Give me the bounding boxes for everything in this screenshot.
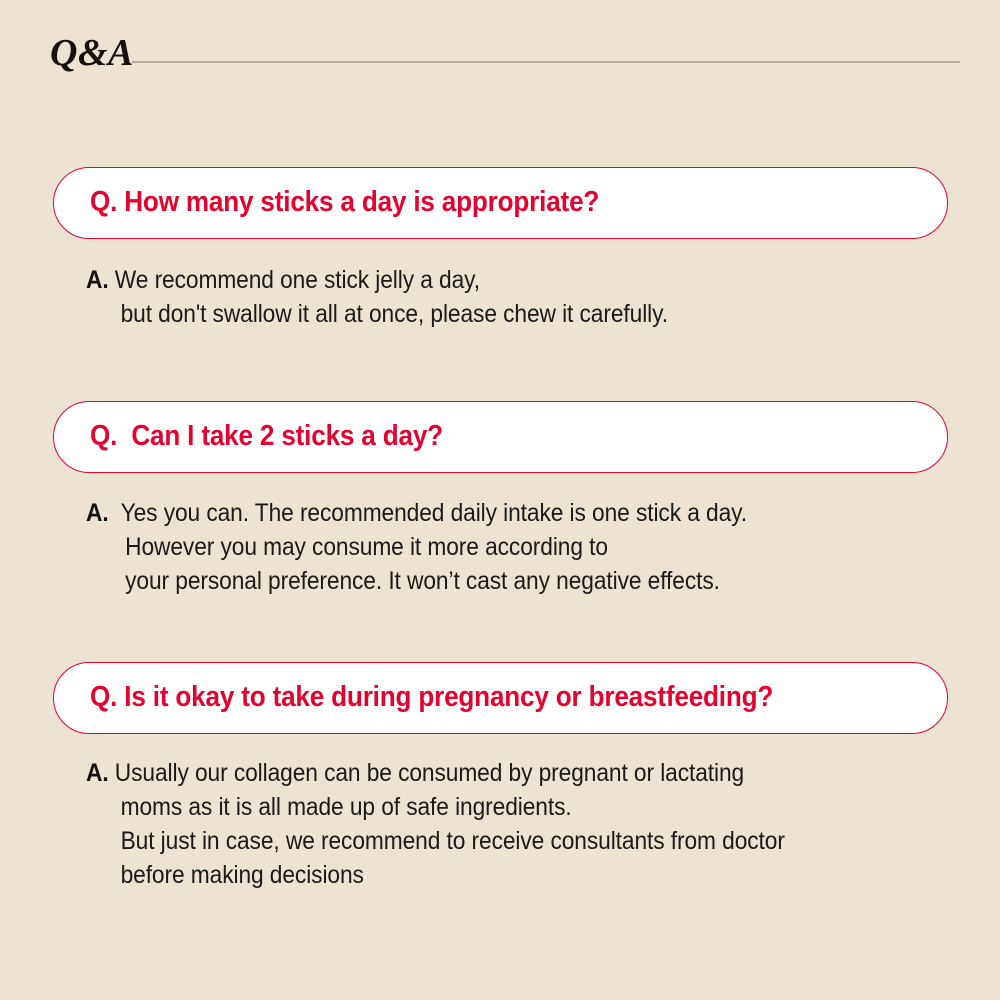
question-pill[interactable]: Q. How many sticks a day is appropriate? <box>53 167 948 239</box>
answer-text: before making decisions <box>86 861 364 889</box>
answer-line: A. We recommend one stick jelly a day, <box>86 263 869 297</box>
answer-text: We recommend one stick jelly a day, <box>109 266 480 294</box>
answer-block: A. We recommend one stick jelly a day, b… <box>86 263 946 331</box>
answer-text: moms as it is all made up of safe ingred… <box>86 793 572 821</box>
question-text: Q. How many sticks a day is appropriate? <box>90 187 599 217</box>
answer-block: A. Yes you can. The recommended daily in… <box>86 496 946 598</box>
answer-line: However you may consume it more accordin… <box>86 530 869 564</box>
answer-text: but don't swallow it all at once, please… <box>86 300 668 328</box>
answer-line: But just in case, we recommend to receiv… <box>86 824 869 858</box>
answer-text: Yes you can. The recommended daily intak… <box>109 499 747 527</box>
question-pill[interactable]: Q. Can I take 2 sticks a day? <box>53 401 948 473</box>
answer-text: However you may consume it more accordin… <box>86 533 608 561</box>
question-pill[interactable]: Q. Is it okay to take during pregnancy o… <box>53 662 948 734</box>
answer-line: A. Yes you can. The recommended daily in… <box>86 496 869 530</box>
answer-line: before making decisions <box>86 858 869 892</box>
answer-label: A. <box>86 266 109 294</box>
question-text: Q. Is it okay to take during pregnancy o… <box>90 682 773 712</box>
answer-text: But just in case, we recommend to receiv… <box>86 827 785 855</box>
qa-list: Q. How many sticks a day is appropriate?… <box>0 0 1000 1000</box>
answer-text: Usually our collagen can be consumed by … <box>109 759 745 787</box>
answer-line: but don't swallow it all at once, please… <box>86 297 869 331</box>
answer-block: A. Usually our collagen can be consumed … <box>86 756 946 892</box>
answer-line: A. Usually our collagen can be consumed … <box>86 756 869 790</box>
answer-line: your personal preference. It won’t cast … <box>86 564 869 598</box>
answer-label: A. <box>86 499 109 527</box>
answer-line: moms as it is all made up of safe ingred… <box>86 790 869 824</box>
question-text: Q. Can I take 2 sticks a day? <box>90 421 443 451</box>
answer-text: your personal preference. It won’t cast … <box>86 567 720 595</box>
answer-label: A. <box>86 759 109 787</box>
